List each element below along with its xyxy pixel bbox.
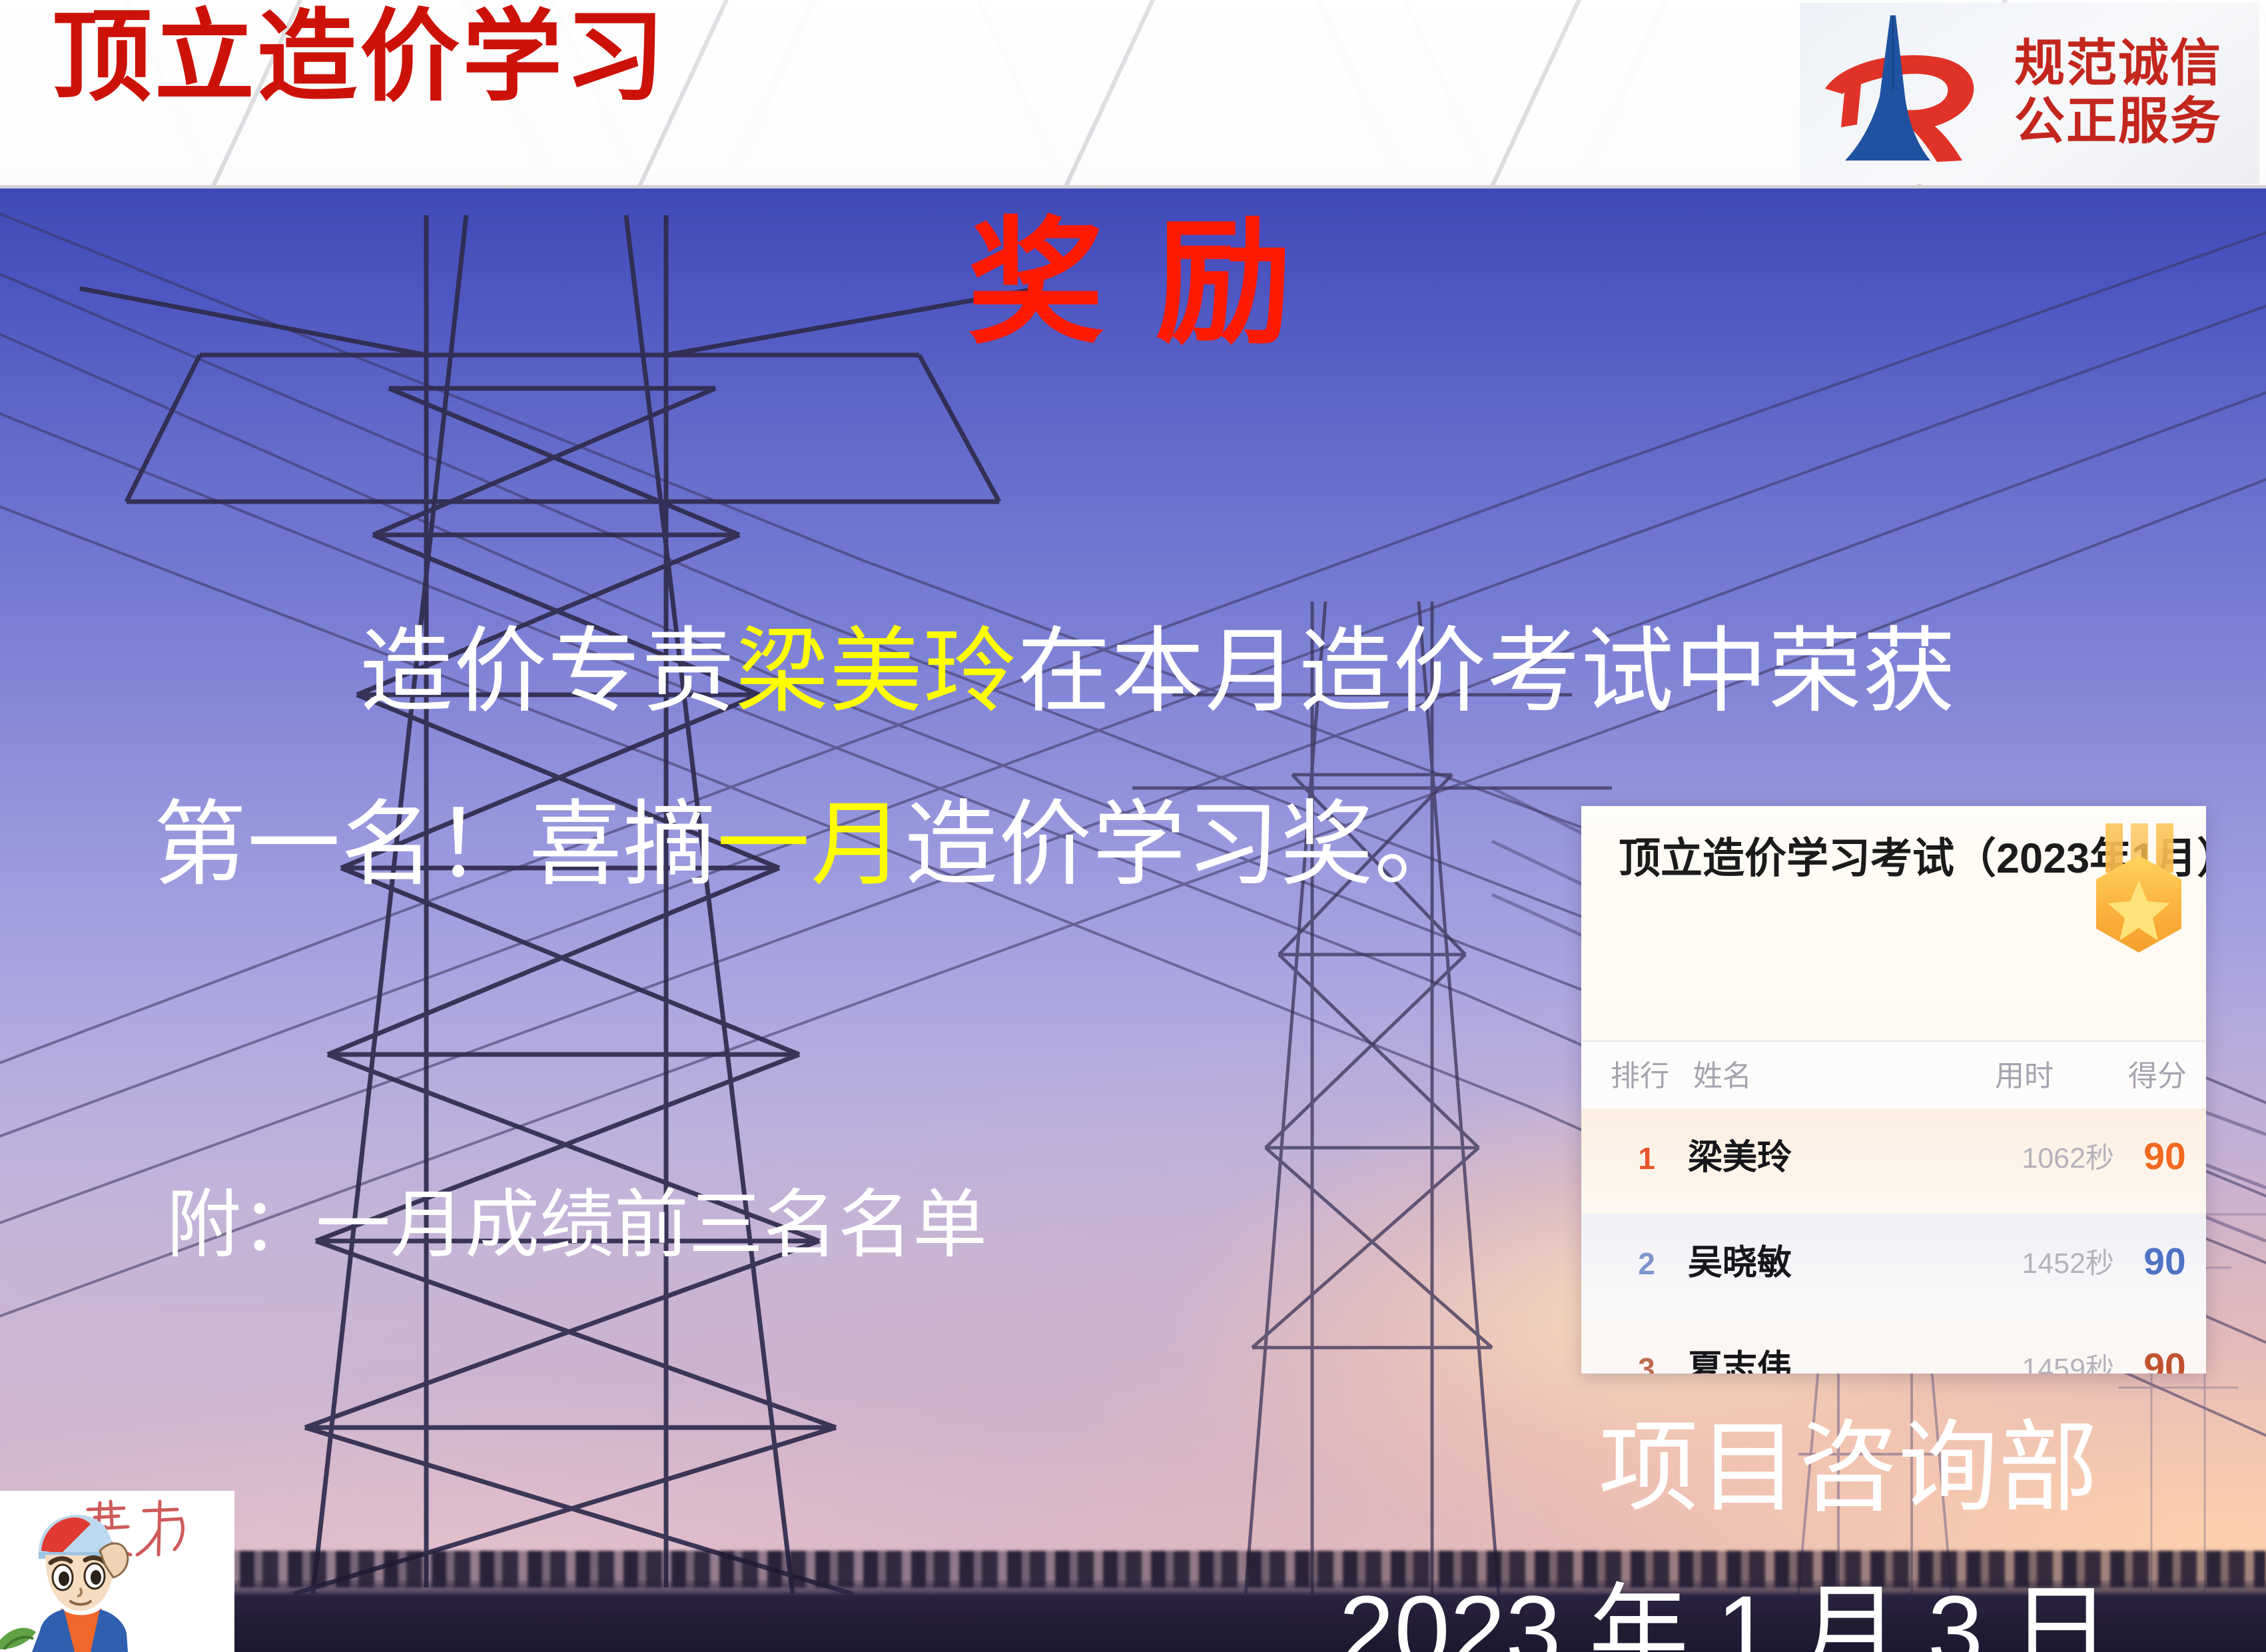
- company-logo: 规范诚信 公正服务: [1800, 3, 2259, 184]
- effort-boy-sticker: [0, 1491, 234, 1652]
- announcement-line-1: 造价专责梁美玲在本月造价考试中荣获: [360, 625, 1956, 718]
- row-name: 吴晓敏: [1688, 1246, 1792, 1280]
- attachment-note: 附：一月成绩前三名名单: [167, 1188, 987, 1262]
- column-header-score: 得分: [2114, 1062, 2201, 1091]
- row-name: 夏志伟: [1688, 1351, 1792, 1374]
- column-header-name: 姓名: [1693, 1062, 1752, 1091]
- award-month-highlight: 一月: [717, 792, 905, 897]
- row-time: 1062秒: [1954, 1144, 2114, 1173]
- announcement-line-1-post: 在本月造价考试中荣获: [1017, 619, 1956, 723]
- gold-medal-icon: [2080, 823, 2197, 963]
- leaderboard-card: 顶立造价学习考试（2023年1月）: [1581, 806, 2206, 1374]
- announcement-line-1-pre: 造价专责: [360, 619, 735, 723]
- department-signature: 项目咨询部: [1599, 1418, 2098, 1517]
- row-time: 1452秒: [1954, 1250, 2114, 1278]
- logo-slogan-line-1: 规范诚信: [2014, 35, 2259, 93]
- winner-name-highlight: 梁美玲: [735, 619, 1017, 723]
- slide-header: 顶立造价学习 规范诚信 公正服务: [0, 0, 2266, 189]
- announcement-line-2-post: 造价学习奖。: [905, 792, 1468, 897]
- table-row: 3 夏志伟 1459秒 90: [1581, 1319, 2206, 1374]
- table-row: 1 梁美玲 1062秒 90: [1581, 1108, 2206, 1214]
- leaderboard-header-row: 排行 姓名 用时 得分: [1581, 1040, 2206, 1111]
- logo-slogan: 规范诚信 公正服务: [2005, 35, 2259, 152]
- row-score: 90: [2134, 1348, 2195, 1374]
- logo-slogan-line-2: 公正服务: [2014, 93, 2259, 151]
- row-rank: 1: [1613, 1143, 1680, 1174]
- row-rank: 3: [1613, 1354, 1680, 1374]
- row-score: 90: [2134, 1138, 2195, 1176]
- table-row: 2 吴晓敏 1452秒 90: [1581, 1214, 2206, 1319]
- award-headline: 奖 励: [0, 208, 2266, 359]
- page-title: 顶立造价学习: [52, 8, 667, 108]
- date-signature: 2023 年 1 月 3 日: [1339, 1581, 2111, 1652]
- column-header-time: 用时: [1941, 1062, 2107, 1091]
- column-header-rank: 排行: [1611, 1062, 1684, 1091]
- row-name: 梁美玲: [1688, 1140, 1792, 1175]
- announcement-line-2-pre: 第一名！喜摘: [153, 792, 717, 897]
- row-score: 90: [2134, 1243, 2195, 1281]
- dingli-logo-icon: [1805, 10, 2005, 177]
- row-time: 1459秒: [1954, 1355, 2114, 1374]
- announcement-line-2: 第一名！喜摘一月造价学习奖。: [153, 798, 1468, 891]
- row-rank: 2: [1613, 1248, 1680, 1279]
- slide-body: 奖 励 造价专责梁美玲在本月造价考试中荣获 第一名！喜摘一月造价学习奖。 附：一…: [0, 189, 2266, 1652]
- slide-canvas: 顶立造价学习 规范诚信 公正服务: [0, 0, 2266, 1652]
